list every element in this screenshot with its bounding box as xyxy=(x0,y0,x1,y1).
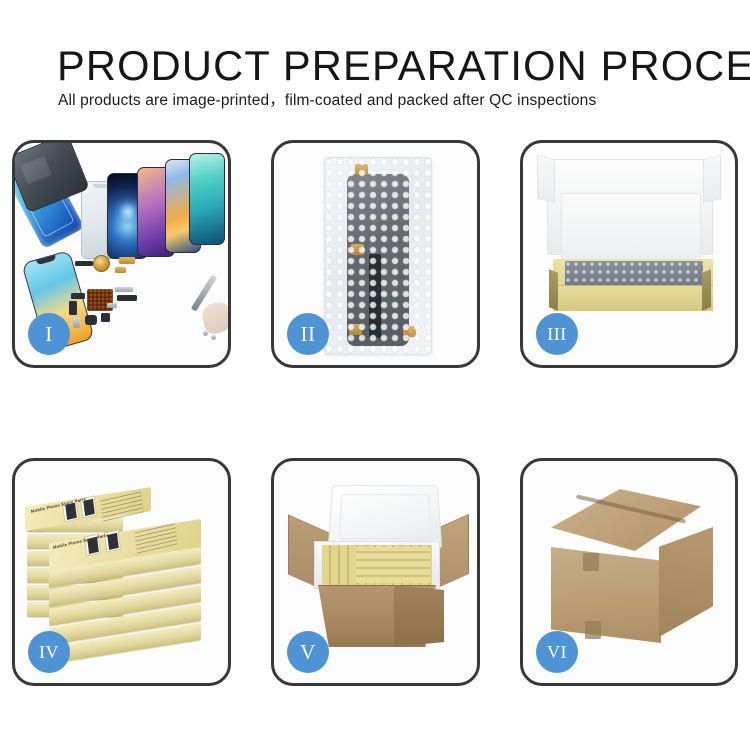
spare-part-shield xyxy=(107,303,117,308)
vibration-motor-part xyxy=(93,255,110,272)
tape-tab-top xyxy=(355,164,368,175)
box-flap-left xyxy=(537,155,555,203)
process-steps-grid: I II xyxy=(0,0,750,750)
spare-part-camera xyxy=(101,313,110,322)
panel-step-1[interactable]: I xyxy=(12,140,231,368)
box-flap-right xyxy=(703,155,721,203)
carton-tape-upper xyxy=(583,553,599,571)
tape-tab-lower-right xyxy=(403,326,416,337)
spare-part-sim-tray xyxy=(73,317,80,328)
spare-part-gold-connector xyxy=(119,257,135,264)
panel-2-image xyxy=(274,143,477,365)
spare-part-speaker xyxy=(85,315,97,325)
panel-6-image xyxy=(523,461,735,683)
spare-part-bracket xyxy=(115,287,133,292)
yellow-boxes-row-back xyxy=(356,547,430,583)
spare-part-gold-clip xyxy=(115,267,126,273)
spare-part-strip xyxy=(75,261,93,266)
spare-part-flex-b xyxy=(69,301,77,315)
foam-lid xyxy=(328,485,443,549)
carton-side-face xyxy=(659,527,713,637)
product-preparation-infographic: PRODUCT PREPARATION PROCESS All products… xyxy=(0,0,750,750)
box-stack: Mobile Phone Spare Parts Mobile Phone Sp… xyxy=(23,479,219,669)
tape-tab-mid xyxy=(351,244,364,255)
spare-part-flex-a xyxy=(71,293,85,299)
panel-step-5[interactable]: V xyxy=(271,458,480,686)
panel-3-image xyxy=(523,143,735,365)
phone-display-teal xyxy=(189,153,225,245)
spare-part-flex-c xyxy=(117,295,137,301)
panel-5-image xyxy=(274,461,477,683)
tape-tab-lower-left xyxy=(349,324,362,335)
foam-sheet xyxy=(561,193,701,265)
yellow-box-front xyxy=(553,285,713,311)
panel-4-image: Mobile Phone Spare Parts Mobile Phone Sp… xyxy=(15,461,228,683)
yellow-box-end-right xyxy=(702,269,711,311)
yellow-box-end-left xyxy=(549,269,558,311)
panel-step-4[interactable]: Mobile Phone Spare Parts Mobile Phone Sp… xyxy=(12,458,231,686)
panel-1-image xyxy=(15,143,228,365)
bubble-wrap-bag xyxy=(324,157,432,355)
carton-front-face xyxy=(551,547,661,643)
panel-step-6[interactable]: VI xyxy=(520,458,738,686)
screw-part-b xyxy=(211,335,216,340)
panel-step-2[interactable]: II xyxy=(271,140,480,368)
screw-part-a xyxy=(203,331,208,336)
carton-body-side xyxy=(394,585,444,647)
wrapped-flex-cable xyxy=(369,254,381,338)
phone-back-housing xyxy=(12,140,90,213)
carton-tape-lower xyxy=(585,621,601,639)
panel-step-3[interactable]: III xyxy=(520,140,738,368)
